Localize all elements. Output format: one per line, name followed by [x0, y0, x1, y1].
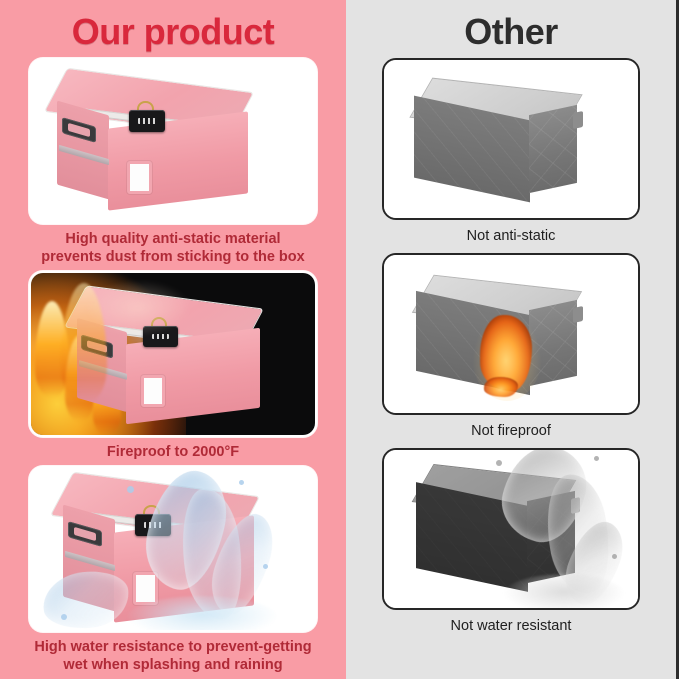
caption-line-2: wet when splashing and raining [18, 656, 328, 674]
water-drop-icon [127, 486, 134, 493]
other-card-not-anti-static [382, 58, 640, 220]
box-tab [573, 111, 583, 129]
our-product-card-fireproof [29, 271, 317, 437]
other-column: Other Not anti-static [346, 0, 679, 679]
other-card-not-water-resistant [382, 448, 640, 610]
water-pool-icon [127, 596, 277, 632]
caption-not-anti-static: Not anti-static [361, 227, 661, 245]
caption-line-1: Not water resistant [361, 617, 661, 635]
box-tab [573, 306, 583, 323]
label-window-icon [141, 375, 165, 407]
caption-line-1: High water resistance to prevent-getting [18, 638, 328, 656]
caption-line-1: Not fireproof [361, 422, 661, 440]
combination-lock-icon [129, 110, 165, 132]
our-product-card-anti-static [29, 58, 317, 224]
caption-line-2: prevents dust from sticking to the box [18, 248, 328, 266]
water-drop-icon [239, 480, 244, 485]
scene-plain-white [31, 60, 315, 222]
water-drop-icon [594, 456, 599, 461]
water-pool-icon [504, 574, 624, 610]
comparison-infographic: Our product High quality anti-sta [0, 0, 679, 679]
smoke-icon [83, 279, 193, 337]
scene-water-splash [31, 468, 315, 630]
caption-fireproof: Fireproof to 2000°F [18, 443, 328, 461]
flame-icon [484, 377, 518, 397]
box-front [529, 105, 577, 193]
our-product-card-water-resistant [29, 466, 317, 632]
label-window-icon [127, 161, 152, 194]
scene-fire-dark [31, 273, 315, 435]
other-card-not-fireproof [382, 253, 640, 415]
our-product-title: Our product [72, 14, 274, 50]
caption-anti-static: High quality anti-static material preven… [18, 230, 328, 266]
caption-line-1: Not anti-static [361, 227, 661, 245]
caption-water-resistant: High water resistance to prevent-getting… [18, 638, 328, 674]
caption-line-1: Fireproof to 2000°F [18, 443, 328, 461]
scene-plain-white [384, 60, 638, 218]
water-drop-icon [496, 460, 502, 466]
scene-burning [384, 255, 638, 413]
other-title: Other [464, 14, 558, 50]
water-drop-icon [263, 564, 268, 569]
caption-not-fireproof: Not fireproof [361, 422, 661, 440]
our-product-column: Our product High quality anti-sta [0, 0, 346, 679]
caption-line-1: High quality anti-static material [18, 230, 328, 248]
scene-water-splash [384, 450, 638, 608]
water-drop-icon [61, 614, 67, 620]
caption-not-water-resistant: Not water resistant [361, 617, 661, 635]
water-splash-icon [40, 568, 131, 632]
